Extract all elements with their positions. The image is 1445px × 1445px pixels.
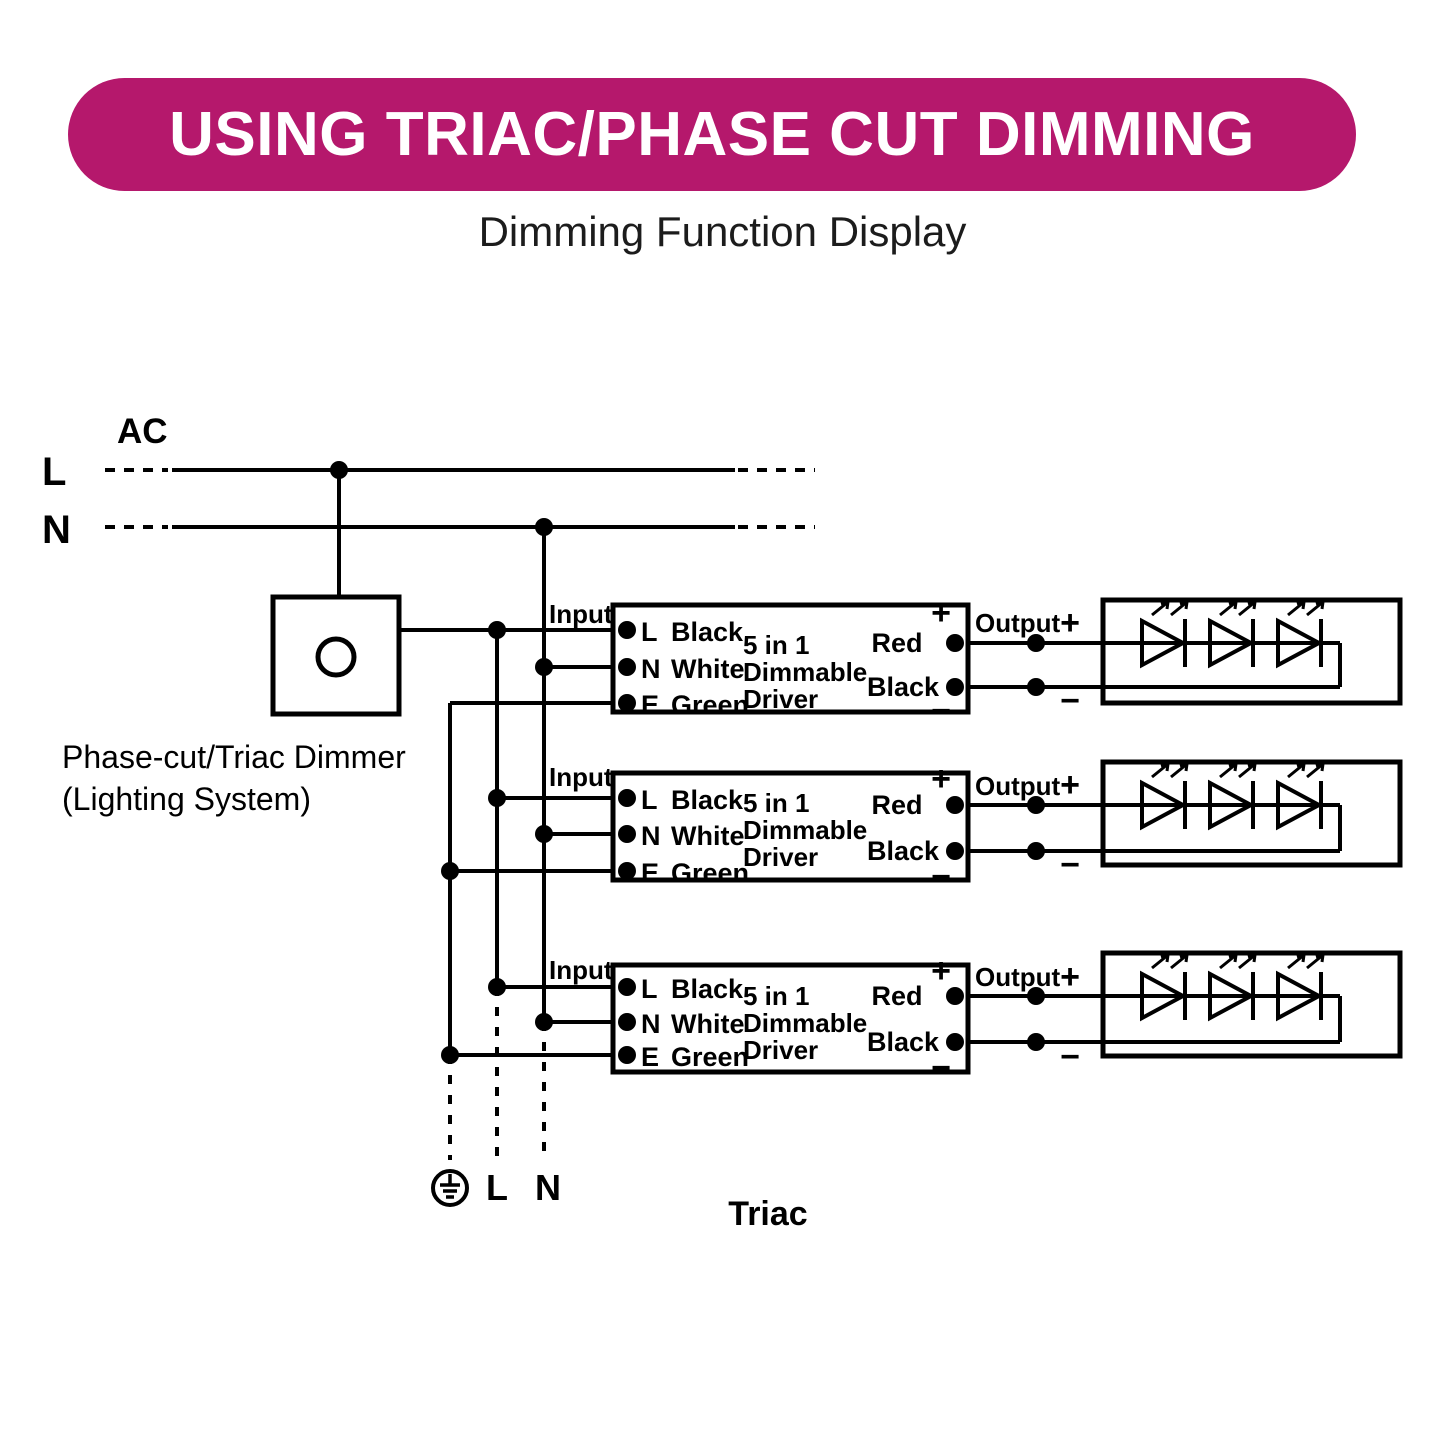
driver2-input-wire-0: Black (671, 785, 744, 815)
input-label-3: Input (549, 955, 613, 985)
driver1-plus-symbol: + (931, 594, 951, 632)
driver1-input-wire-1: White (671, 654, 745, 684)
bottom-neutral-label: N (535, 1167, 561, 1208)
driver2-input-wire-1: White (671, 821, 745, 851)
driver1-title-line2: Dimmable (743, 657, 867, 687)
led2-plus-symbol: + (1060, 766, 1080, 804)
dimmer-box[interactable] (273, 597, 399, 714)
driver2-input-wire-2: Green (671, 858, 749, 888)
driver1-minus-symbol: − (931, 692, 951, 730)
wiring-diagram: AC L N Phase-cut/Triac Dimmer (Lighting … (0, 0, 1445, 1445)
terminal-dot (618, 658, 636, 676)
input-label-1: Input (549, 599, 613, 629)
driver2-input-terminal-0: L (641, 785, 658, 815)
led-symbols-group-3 (1142, 955, 1323, 1020)
driver1-output-wire-0: Red (871, 628, 922, 658)
led3-minus-symbol: − (1060, 1038, 1080, 1076)
driver3-input-terminal-2: E (641, 1042, 659, 1072)
output-label-1: Output (975, 608, 1061, 638)
junction-dot (441, 862, 459, 880)
led3-plus-symbol: + (1060, 958, 1080, 996)
driver3-input-wire-2: Green (671, 1042, 749, 1072)
driver3-plus-symbol: + (931, 952, 951, 990)
driver2-minus-symbol: − (931, 858, 951, 896)
driver3-input-terminal-1: N (641, 1009, 661, 1039)
led-symbols-group-1 (1142, 602, 1323, 667)
driver1-input-wire-0: Black (671, 617, 744, 647)
driver2-title-line2: Dimmable (743, 815, 867, 845)
driver3-output-wire-0: Red (871, 981, 922, 1011)
driver2-title-line3: Driver (743, 842, 818, 872)
driver2-output-wire-1: Black (867, 836, 940, 866)
terminal-dot (618, 789, 636, 807)
junction-dot (441, 1046, 459, 1064)
driver1-output-wire-1: Black (867, 672, 940, 702)
junction-dot (488, 789, 506, 807)
dimmer-caption-line2: (Lighting System) (62, 781, 311, 817)
driver2-plus-symbol: + (931, 760, 951, 798)
ac-label: AC (117, 412, 168, 451)
terminal-dot (946, 634, 964, 652)
driver1-input-terminal-2: E (641, 690, 659, 720)
output-label-3: Output (975, 962, 1061, 992)
driver3-title-line1: 5 in 1 (743, 981, 809, 1011)
terminal-dot (618, 1046, 636, 1064)
led-symbols-group-2 (1142, 764, 1323, 829)
driver3-title-line2: Dimmable (743, 1008, 867, 1038)
neutral-line-label: N (42, 508, 71, 552)
led2-minus-symbol: − (1060, 846, 1080, 884)
junction-dot (535, 825, 553, 843)
driver1-input-terminal-0: L (641, 617, 658, 647)
driver1-input-wire-2: Green (671, 690, 749, 720)
terminal-dot (618, 694, 636, 712)
junction-dot (488, 621, 506, 639)
driver1-title-line3: Driver (743, 684, 818, 714)
junction-dot (1027, 1033, 1045, 1051)
driver1-input-terminal-1: N (641, 654, 661, 684)
driver3-input-wire-0: Black (671, 974, 744, 1004)
junction-dot (330, 461, 348, 479)
driver2-output-wire-0: Red (871, 790, 922, 820)
junction-dot (535, 658, 553, 676)
driver3-input-terminal-0: L (641, 974, 658, 1004)
driver3-input-wire-1: White (671, 1009, 745, 1039)
dimmer-caption-line1: Phase-cut/Triac Dimmer (62, 739, 406, 775)
driver3-output-wire-1: Black (867, 1027, 940, 1057)
output-label-2: Output (975, 771, 1061, 801)
terminal-dot (618, 978, 636, 996)
live-line-label: L (42, 450, 66, 494)
led1-minus-symbol: − (1060, 682, 1080, 720)
footer-label: Triac (728, 1195, 807, 1233)
terminal-dot (618, 621, 636, 639)
driver2-title-line1: 5 in 1 (743, 788, 809, 818)
driver3-title-line3: Driver (743, 1035, 818, 1065)
driver3-minus-symbol: − (931, 1049, 951, 1087)
bottom-live-label: L (486, 1167, 508, 1208)
earth-ground-icon (433, 1171, 467, 1205)
junction-dot (535, 518, 553, 536)
terminal-dot (946, 796, 964, 814)
driver1-title-line1: 5 in 1 (743, 630, 809, 660)
junction-dot (1027, 678, 1045, 696)
junction-dot (488, 978, 506, 996)
junction-dot (1027, 842, 1045, 860)
driver2-input-terminal-1: N (641, 821, 661, 851)
diagram-page: USING TRIAC/PHASE CUT DIMMING Dimming Fu… (0, 0, 1445, 1445)
led1-plus-symbol: + (1060, 604, 1080, 642)
terminal-dot (618, 825, 636, 843)
terminal-dot (618, 1013, 636, 1031)
terminal-dot (618, 862, 636, 880)
junction-dot (535, 1013, 553, 1031)
dimmer-knob-circle-icon[interactable] (318, 639, 354, 675)
driver2-input-terminal-2: E (641, 858, 659, 888)
input-label-2: Input (549, 762, 613, 792)
